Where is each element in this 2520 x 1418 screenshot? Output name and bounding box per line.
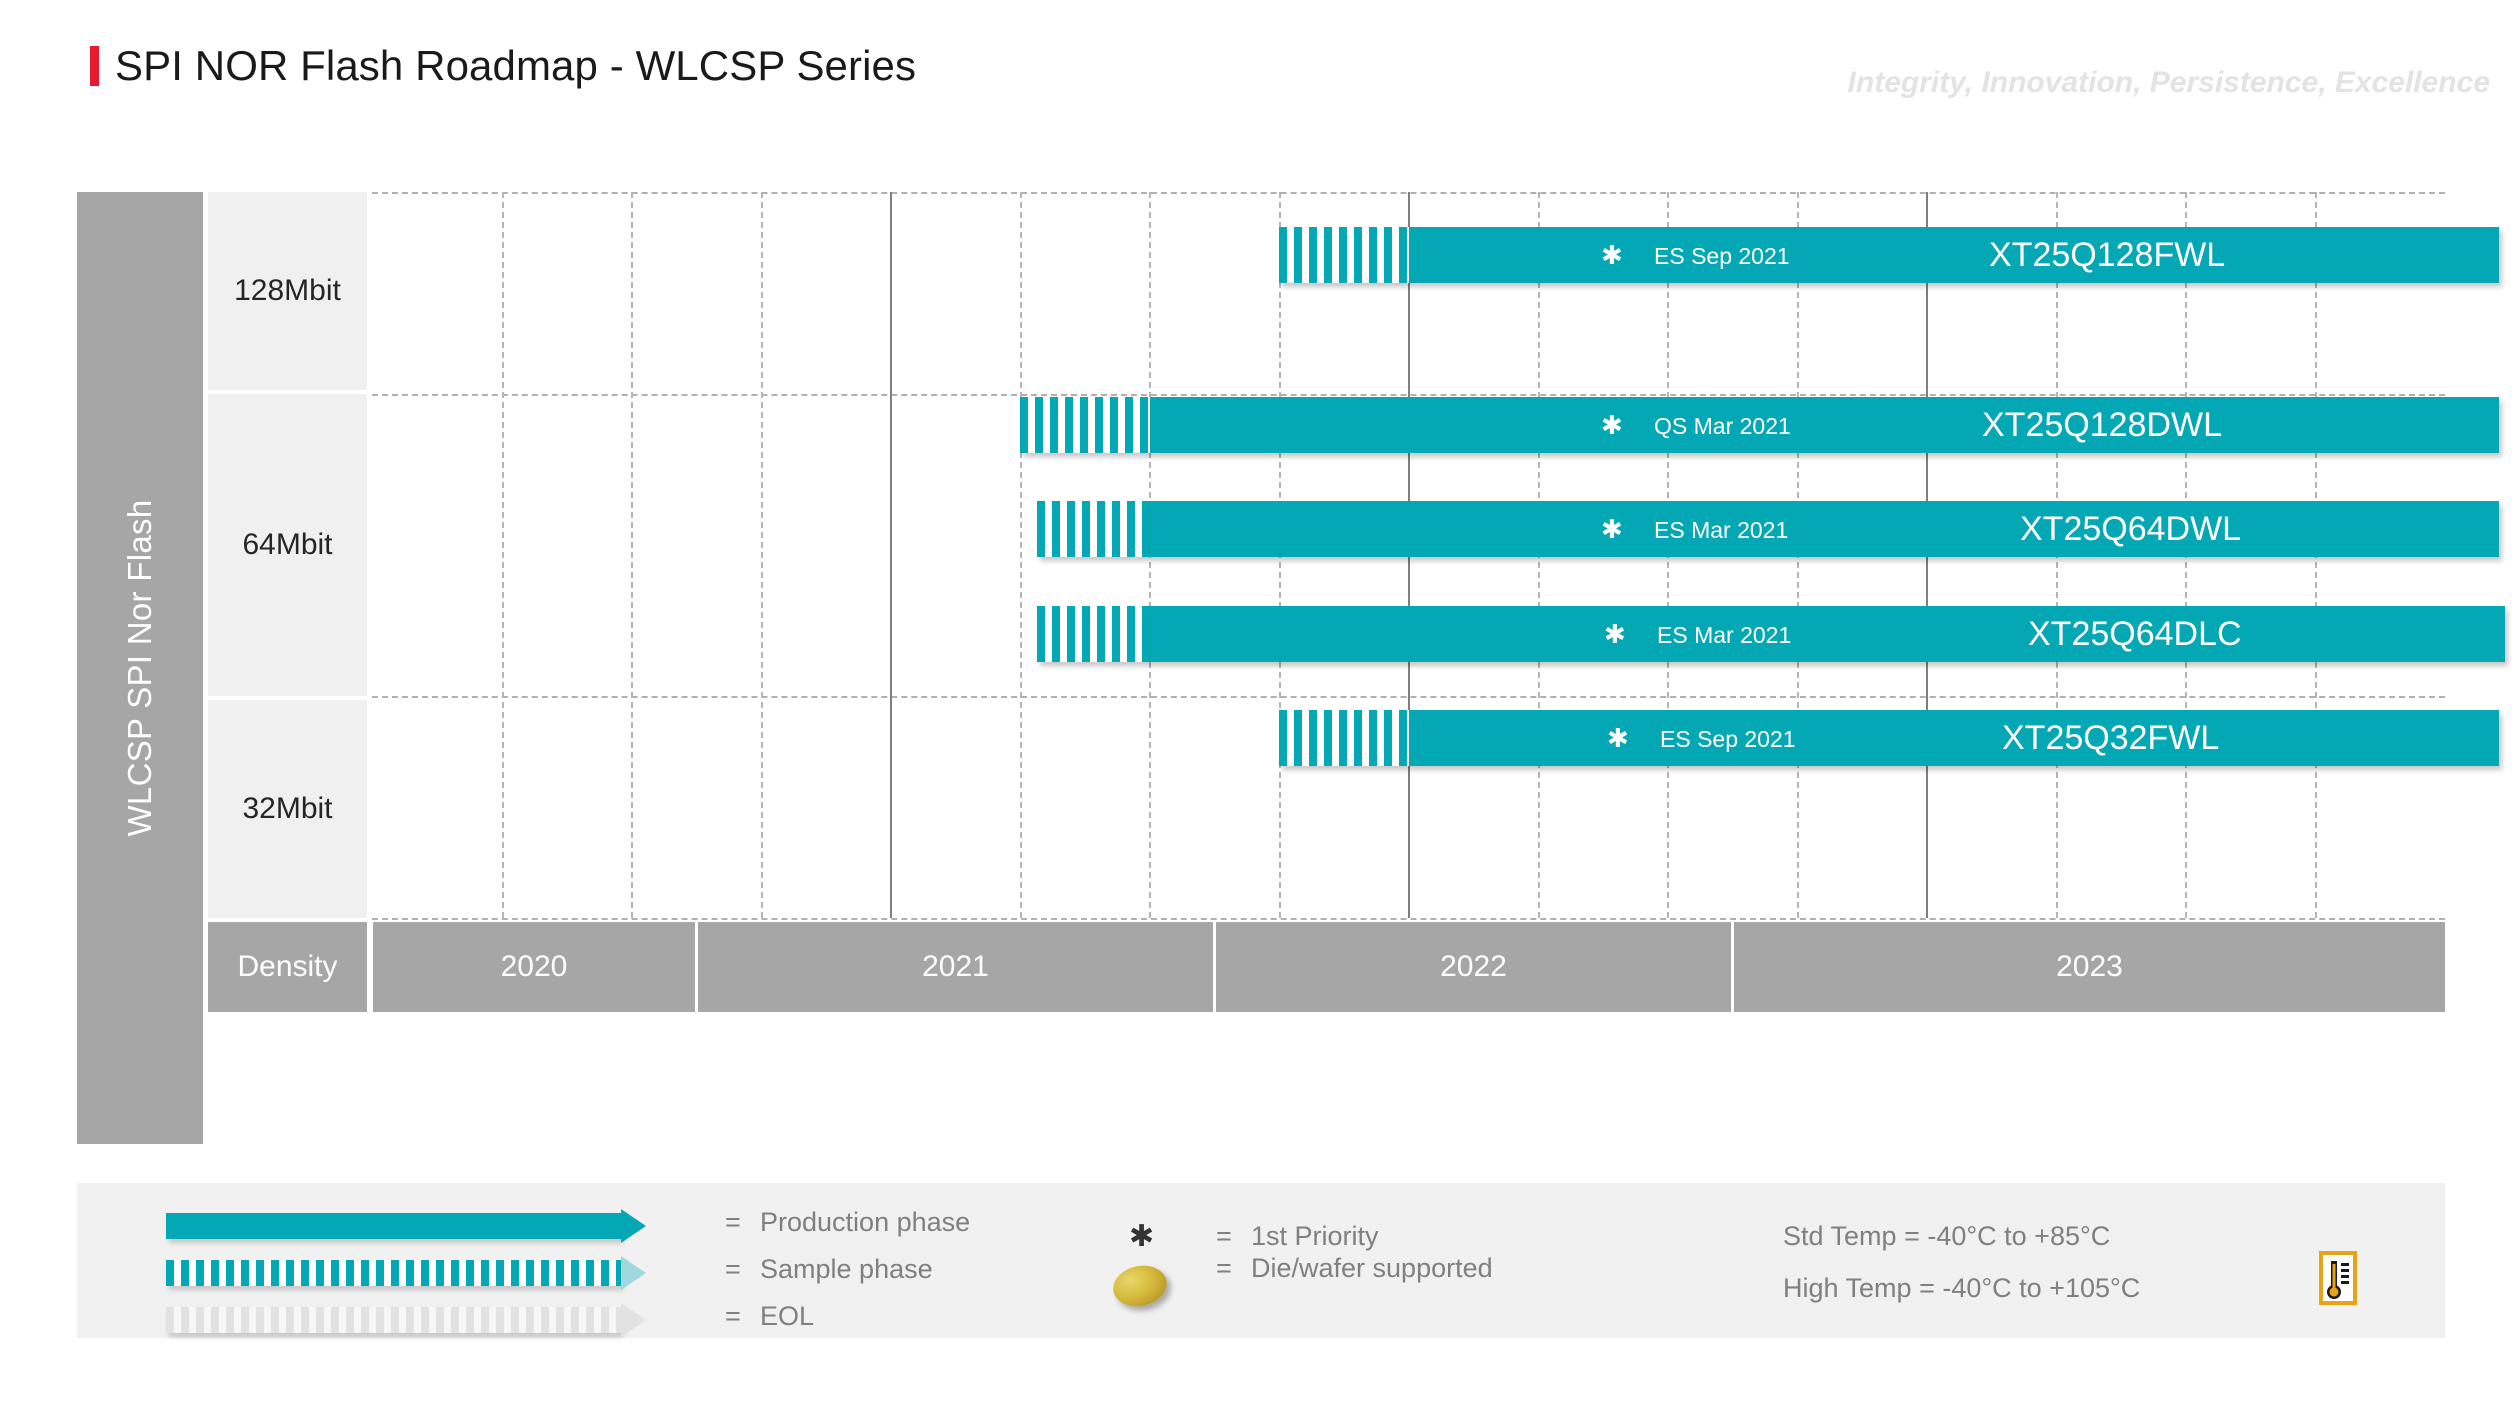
year-cell-2021: 2021 (695, 922, 1213, 1012)
legend-sample-arrowhead (621, 1256, 646, 1290)
legend-production-arrow (166, 1213, 646, 1239)
legend-equals-sign: = (1216, 1253, 1232, 1284)
legend-label-eol: EOL (760, 1301, 814, 1332)
header-tagline: Integrity, Innovation, Persistence, Exce… (1848, 66, 2490, 100)
roadmap-chart: WLCSP SPI Nor Flash 128Mbit 64Mbit 32Mbi… (77, 192, 2445, 1144)
thermometer-glyph (2323, 1255, 2353, 1301)
gridline-quarter (1020, 192, 1022, 918)
production-phase-segment (1150, 397, 2499, 453)
legend-equals-sign: = (1216, 1221, 1232, 1252)
sample-phase-segment (1020, 397, 1150, 453)
part-number-label: XT25Q64DLC (2028, 615, 2242, 654)
milestone-label: ES Mar 2021 (1657, 622, 1791, 649)
sample-phase-segment (1037, 606, 1150, 662)
page-title: SPI NOR Flash Roadmap - WLCSP Series (90, 42, 916, 90)
legend-panel: = Production phase = Sample phase = EOL … (77, 1183, 2445, 1338)
year-cell-2020: 2020 (370, 922, 695, 1012)
legend-production-arrowhead (621, 1209, 646, 1243)
priority-star-icon: ✱ (1601, 516, 1623, 542)
title-marker-icon (90, 46, 99, 86)
gridline-year-2021 (890, 192, 892, 918)
legend-sample-arrow (166, 1260, 646, 1286)
priority-star-icon: ✱ (1601, 242, 1623, 268)
roadmap-bar-xt25q64dwl[interactable]: ✱ ES Mar 2021 XT25Q64DWL (1037, 501, 2499, 557)
year-axis-row: Density 2020 2021 2022 2023 (77, 922, 2445, 1012)
part-number-label: XT25Q32FWL (2002, 719, 2219, 758)
year-cell-2023: 2023 (1731, 922, 2445, 1012)
density-header-cell: Density (208, 922, 367, 1012)
part-number-label: XT25Q128DWL (1982, 406, 2222, 445)
page-title-text: SPI NOR Flash Roadmap - WLCSP Series (115, 42, 916, 90)
sample-phase-segment (1279, 710, 1409, 766)
legend-sample-bar (166, 1260, 621, 1286)
milestone-label: ES Mar 2021 (1654, 517, 1788, 544)
thermometer-icon (2319, 1251, 2357, 1305)
die-wafer-icon (1109, 1261, 1170, 1311)
year-cell-2022: 2022 (1213, 922, 1731, 1012)
roadmap-bar-xt25q128dwl[interactable]: ✱ QS Mar 2021 XT25Q128DWL (1020, 397, 2499, 453)
legend-label-sample-phase: Sample phase (760, 1254, 933, 1285)
legend-equals-sign: = (725, 1207, 741, 1238)
legend-label-die-wafer: Die/wafer supported (1251, 1253, 1493, 1284)
gridline-quarter (502, 192, 504, 918)
legend-production-bar (166, 1213, 621, 1239)
roadmap-bar-xt25q64dlc[interactable]: ✱ ES Mar 2021 XT25Q64DLC (1037, 606, 2505, 662)
milestone-label: ES Sep 2021 (1660, 726, 1796, 753)
legend-label-high-temp: High Temp = -40°C to +105°C (1783, 1273, 2140, 1304)
production-phase-segment (1409, 710, 2499, 766)
legend-eol-arrowhead (621, 1303, 646, 1337)
density-cell-64mbit: 64Mbit (208, 394, 367, 696)
milestone-label: QS Mar 2021 (1654, 413, 1791, 440)
production-phase-segment (1150, 501, 2499, 557)
legend-eol-arrow (166, 1307, 646, 1333)
sample-phase-segment (1037, 501, 1150, 557)
sample-phase-segment (1279, 227, 1409, 283)
gridline-horizontal (372, 918, 2445, 920)
legend-label-production-phase: Production phase (760, 1207, 970, 1238)
milestone-label: ES Sep 2021 (1654, 243, 1790, 270)
production-phase-segment (1409, 227, 2499, 283)
roadmap-bar-xt25q128fwl[interactable]: ✱ ES Sep 2021 XT25Q128FWL (1279, 227, 2499, 283)
density-cell-32mbit: 32Mbit (208, 700, 367, 918)
part-number-label: XT25Q64DWL (2020, 510, 2241, 549)
star-icon: ✱ (1129, 1219, 1154, 1254)
gridline-quarter (761, 192, 763, 918)
density-cell-128mbit: 128Mbit (208, 192, 367, 390)
production-phase-segment (1150, 606, 2505, 662)
priority-star-icon: ✱ (1601, 412, 1623, 438)
legend-label-1st-priority: 1st Priority (1251, 1221, 1379, 1252)
legend-equals-sign: = (725, 1254, 741, 1285)
legend-equals-sign: = (725, 1301, 741, 1332)
chart-plot-area: ✱ ES Sep 2021 XT25Q128FWL ✱ QS Mar 2021 … (372, 192, 2445, 918)
roadmap-bar-xt25q32fwl[interactable]: ✱ ES Sep 2021 XT25Q32FWL (1279, 710, 2499, 766)
part-number-label: XT25Q128FWL (1989, 236, 2225, 275)
legend-label-std-temp: Std Temp = -40°C to +85°C (1783, 1221, 2110, 1252)
gridline-quarter (631, 192, 633, 918)
priority-star-icon: ✱ (1607, 725, 1629, 751)
legend-eol-bar (166, 1307, 621, 1333)
priority-star-icon: ✱ (1604, 621, 1626, 647)
